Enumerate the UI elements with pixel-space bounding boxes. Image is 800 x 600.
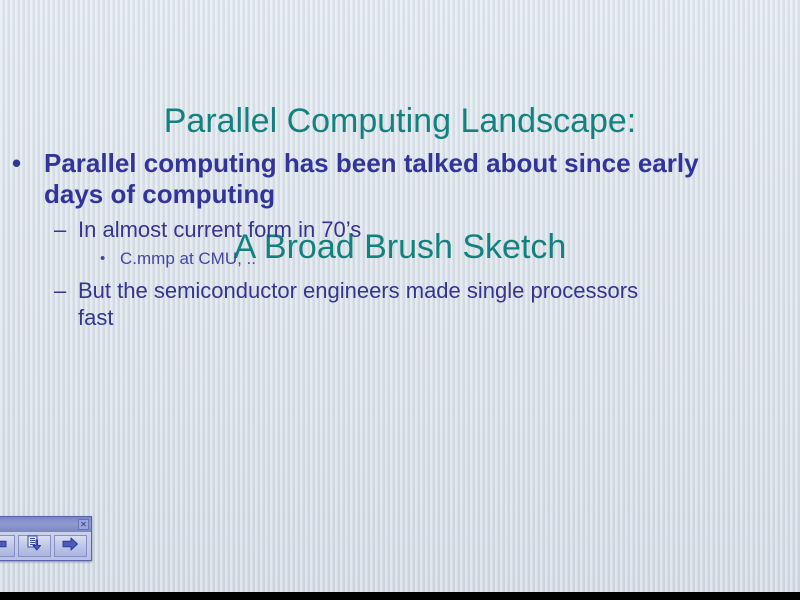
bullet-marker-dash-icon: –: [54, 277, 66, 304]
bullet-level1: • Parallel computing has been talked abo…: [0, 148, 800, 210]
bullet-level2-text: In almost current form in 70’s: [78, 217, 361, 242]
bullet-marker-dot-icon: •: [12, 148, 21, 179]
bottom-black-bar: [0, 592, 800, 600]
left-arrow-icon: [0, 537, 8, 556]
close-icon[interactable]: ✕: [78, 519, 89, 530]
slideshow-nav-widget[interactable]: /16 ✕: [0, 516, 92, 561]
nav-widget-titlebar[interactable]: /16 ✕: [0, 517, 91, 532]
bullet-level2: – In almost current form in 70’s: [0, 216, 800, 243]
bullet-level3-text: C.mmp at CMU, ..: [120, 249, 256, 268]
bullet-level3: • C.mmp at CMU, ..: [0, 248, 800, 270]
bullet-level1-text: Parallel computing has been talked about…: [44, 148, 699, 209]
nav-widget-buttons: [0, 532, 91, 560]
bullet-level2: – But the semiconductor engineers made s…: [0, 277, 800, 331]
document-download-icon: [25, 535, 44, 557]
right-arrow-icon: [61, 537, 80, 556]
previous-slide-button[interactable]: [0, 535, 15, 557]
slide-title-line-1: Parallel Computing Landscape:: [0, 100, 800, 142]
slide-body: • Parallel computing has been talked abo…: [0, 148, 800, 333]
presentation-slide: Parallel Computing Landscape: A Broad Br…: [0, 0, 800, 592]
bullet-level2-text: But the semiconductor engineers made sin…: [78, 278, 638, 330]
bullet-marker-small-dot-icon: •: [100, 248, 105, 270]
save-document-button[interactable]: [18, 535, 51, 557]
next-slide-button[interactable]: [54, 535, 87, 557]
bullet-marker-dash-icon: –: [54, 216, 66, 243]
